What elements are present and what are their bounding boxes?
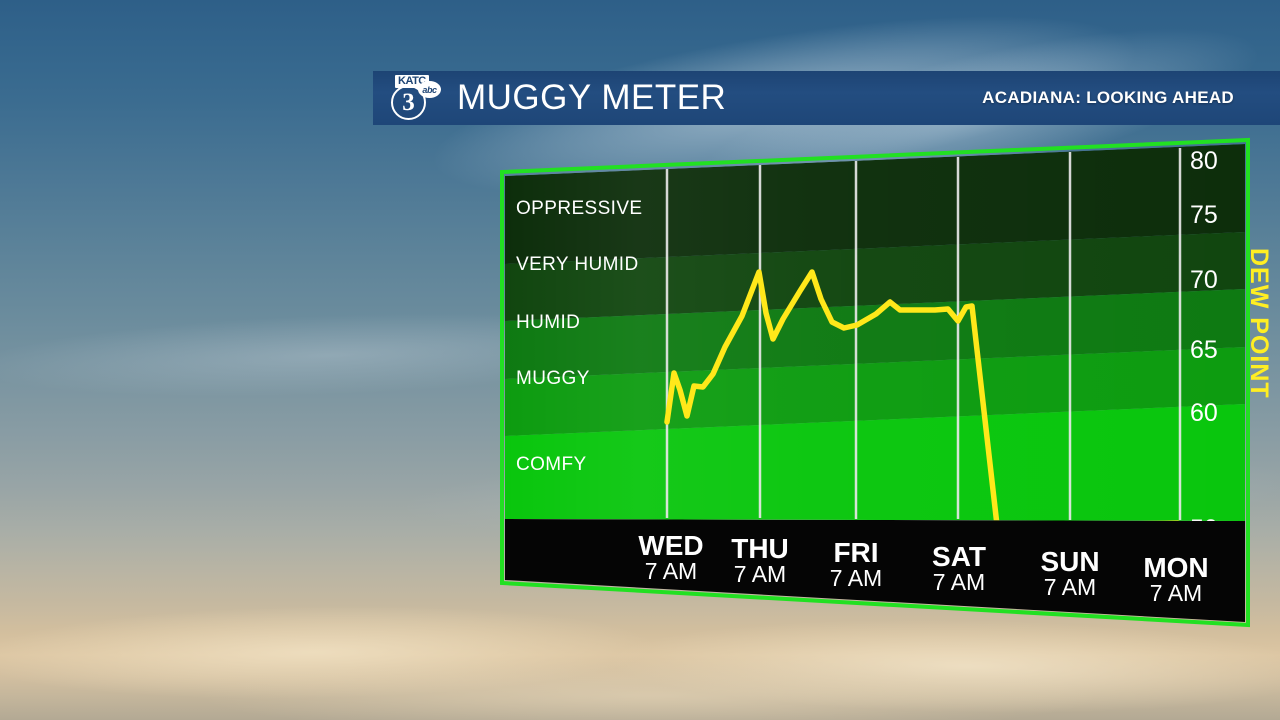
cloud-wisp	[0, 284, 782, 425]
cloud-wisp	[120, 660, 1180, 720]
cloud-wisp	[0, 591, 741, 720]
header-subtitle: ACADIANA: LOOKING AHEAD	[982, 88, 1234, 108]
cloud-wisp	[298, 416, 1280, 575]
header-bar: KATC 3 abc MUGGY METER ACADIANA: LOOKING…	[373, 71, 1280, 125]
katc-3-abc-logo: KATC 3 abc	[389, 74, 441, 122]
weather-graphic: KATC 3 abc MUGGY METER ACADIANA: LOOKING…	[0, 0, 1280, 720]
logo-channel-number: 3	[402, 90, 415, 115]
cloud-wisp	[519, 605, 1280, 720]
logo-affiliate-badge: abc	[418, 81, 441, 98]
page-title: MUGGY METER	[457, 78, 726, 118]
cloud-wisp	[548, 0, 1280, 303]
